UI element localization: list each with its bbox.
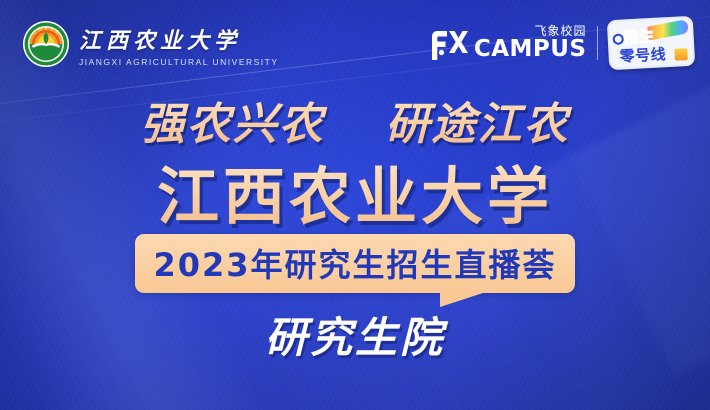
vertical-divider — [597, 26, 599, 60]
university-crest-icon: 江西 农大学 — [22, 20, 70, 68]
phone-circle-icon — [612, 33, 624, 45]
tagline-left: 强农兴农 — [141, 99, 325, 150]
university-name-en: JIANGXI AGRICULTURAL UNIVERSITY — [79, 57, 279, 67]
event-bubble-wrapper: 2023年研究生招生直播荟 — [0, 234, 710, 293]
department-name: 研究生院 — [0, 304, 710, 365]
admissions-hotline-sticker: 招生 零号线 — [607, 16, 695, 70]
fx-logo-icon — [428, 27, 468, 61]
university-lockup: 江西 农大学 江西农业大学 JIANGXI AGRICULTURAL UNIVE… — [22, 20, 279, 68]
partner-lockup: 飞象校园 CAMPUS 招生 零号线 — [428, 18, 694, 68]
fx-name-en: CAMPUS — [474, 38, 587, 61]
tagline-row: 强农兴农 研途江农 — [0, 88, 710, 152]
university-name-cn: 江西农业大学 — [79, 23, 279, 55]
fx-campus-logo: 飞象校园 CAMPUS — [428, 25, 587, 61]
gold-badge-icon — [674, 48, 688, 61]
tagline-right: 研途江农 — [385, 99, 569, 150]
event-title: 2023年研究生招生直播荟 — [153, 240, 556, 286]
live-stream-promo-banner: 江西 农大学 江西农业大学 JIANGXI AGRICULTURAL UNIVE… — [0, 0, 710, 410]
headline-university-name: 江西农业大学 — [0, 146, 710, 236]
event-speech-bubble: 2023年研究生招生直播荟 — [135, 234, 574, 293]
fx-campus-wordmark: 飞象校园 CAMPUS — [474, 25, 587, 61]
sticker-line2: 零号线 — [619, 43, 667, 66]
university-name-block: 江西农业大学 JIANGXI AGRICULTURAL UNIVERSITY — [79, 21, 279, 67]
